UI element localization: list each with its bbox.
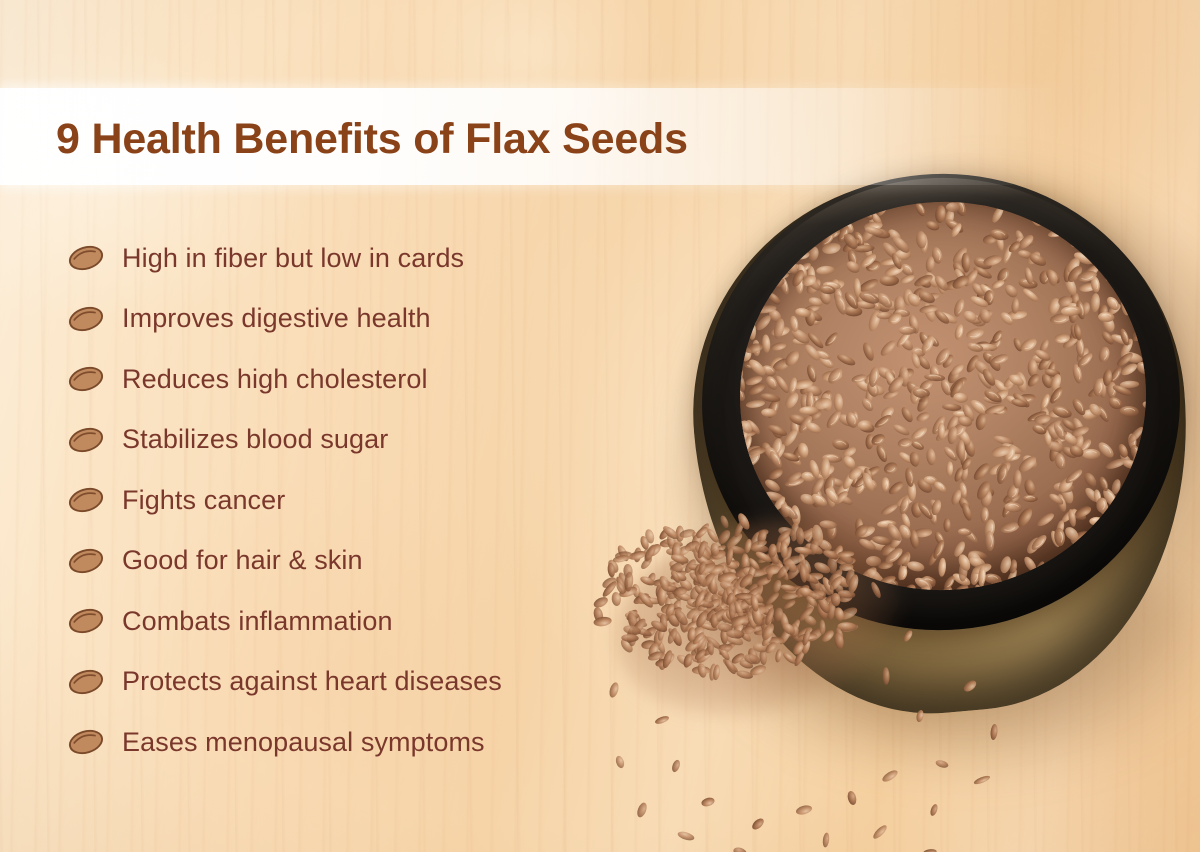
benefit-label: Stabilizes blood sugar bbox=[122, 426, 388, 453]
benefit-item: High in fiber but low in cards bbox=[0, 228, 640, 289]
benefit-label: Good for hair & skin bbox=[122, 547, 363, 574]
benefit-label: Protects against heart diseases bbox=[122, 668, 502, 695]
flax-seed-icon bbox=[66, 363, 106, 395]
benefit-item: Stabilizes blood sugar bbox=[0, 410, 640, 471]
benefit-item: Fights cancer bbox=[0, 470, 640, 531]
benefit-label: Improves digestive health bbox=[122, 305, 431, 332]
benefits-list: High in fiber but low in cardsImproves d… bbox=[0, 228, 640, 773]
benefit-item: Good for hair & skin bbox=[0, 531, 640, 592]
benefit-item: Protects against heart diseases bbox=[0, 652, 640, 713]
benefit-label: Reduces high cholesterol bbox=[122, 366, 428, 393]
benefit-item: Eases menopausal symptoms bbox=[0, 712, 640, 773]
page-title: 9 Health Benefits of Flax Seeds bbox=[56, 115, 688, 164]
flax-seed-icon bbox=[66, 484, 106, 516]
infographic-poster: 9 Health Benefits of Flax Seeds High in … bbox=[0, 0, 1200, 852]
benefit-label: Combats inflammation bbox=[122, 608, 393, 635]
benefit-label: High in fiber but low in cards bbox=[122, 245, 464, 272]
flax-seed-icon bbox=[66, 242, 106, 274]
benefit-item: Combats inflammation bbox=[0, 591, 640, 652]
flax-seed-icon bbox=[66, 605, 106, 637]
flax-seed-icon bbox=[66, 545, 106, 577]
flax-seed-icon bbox=[66, 424, 106, 456]
benefit-label: Fights cancer bbox=[122, 487, 285, 514]
benefit-item: Reduces high cholesterol bbox=[0, 349, 640, 410]
benefit-item: Improves digestive health bbox=[0, 289, 640, 350]
benefit-label: Eases menopausal symptoms bbox=[122, 729, 485, 756]
flax-seed-icon bbox=[66, 303, 106, 335]
flax-seed-icon bbox=[66, 726, 106, 758]
flax-seed-icon bbox=[66, 666, 106, 698]
